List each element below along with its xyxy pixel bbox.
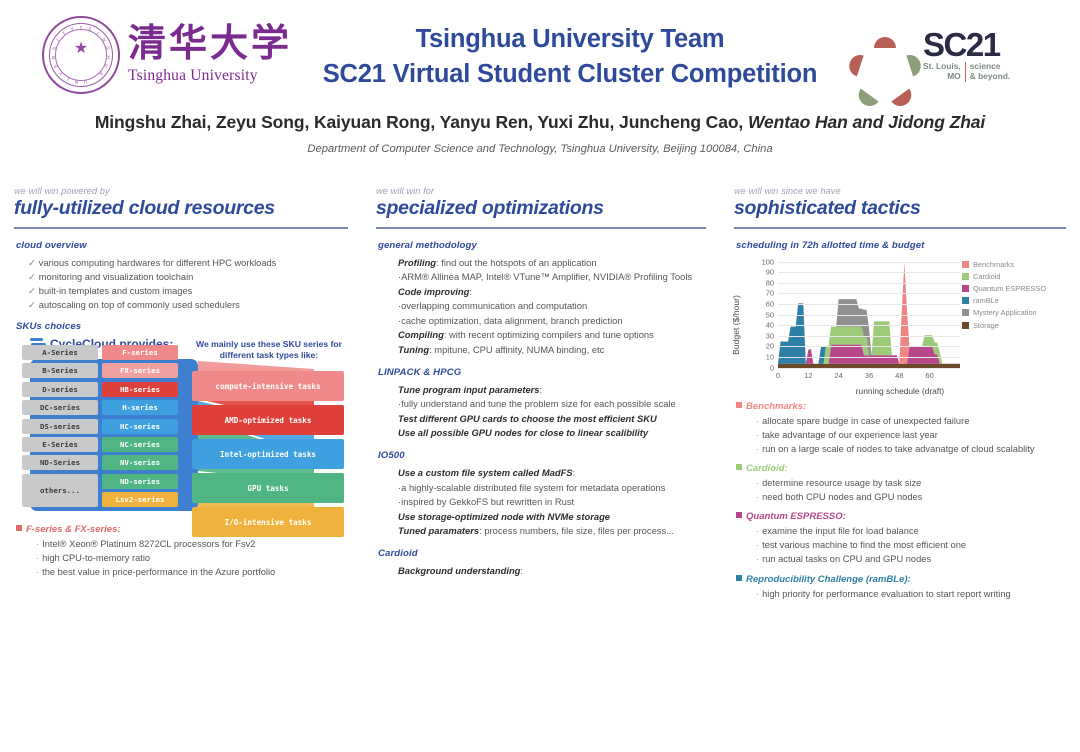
dot-icon: · [756, 492, 759, 502]
square-bullet-icon [736, 512, 742, 518]
chart-x-tick: 48 [895, 371, 903, 380]
task-type-list: compute-intensive tasks AMD-optimized ta… [192, 371, 344, 541]
schedule-chart: Budget ($/hour) 010203040506070809010001… [734, 256, 1066, 394]
sku-cell: NC-series [102, 437, 178, 452]
legend-item: Storage [962, 321, 1066, 330]
list-item-label: run actual tasks on CPU and GPU nodes [762, 554, 931, 564]
background-label: Background understanding [398, 565, 520, 576]
tune-params-sub: ·fully understand and tune the problem s… [398, 397, 706, 412]
cloud-overview-list: ✓various computing hardwares for differe… [28, 256, 348, 313]
chart-gridline [778, 262, 960, 263]
col2-section-io500: IO500 [378, 450, 706, 461]
madfs-sub-label: inspired by GekkoFS but rewritten in Rus… [401, 496, 574, 507]
star-icon: ★ [74, 41, 88, 57]
chart-y-tick: 30 [766, 331, 774, 340]
chart-x-tick: 0 [776, 371, 780, 380]
list-item: ·run on a large scale of nodes to take a… [756, 442, 1066, 456]
list-item: ·test various machine to find the most e… [756, 538, 1066, 552]
chart-y-tick: 0 [770, 363, 774, 372]
legend-label: Cardioid [973, 272, 1001, 281]
list-item-label: built-in templates and custom images [39, 286, 192, 296]
sku-cell: A-Series [22, 345, 98, 360]
col2-kicker: we will win for [376, 186, 706, 196]
dot-icon: · [756, 540, 759, 550]
sku-cell: F-series [102, 345, 178, 360]
chart-x-axis-title: running schedule (draft) [734, 386, 1066, 396]
chart-y-tick: 50 [766, 310, 774, 319]
group-header-benchmarks: Benchmarks: [736, 401, 1066, 412]
dot-icon: · [756, 554, 759, 564]
legend-swatch [962, 322, 969, 329]
legend-label: ramBLe [973, 296, 999, 305]
sc21-logo: SC21 St. Louis, MO science & beyond. [854, 20, 1062, 92]
tune-params-sub-label: fully understand and tune the problem si… [401, 398, 676, 409]
tune-params-text: : [540, 384, 543, 395]
university-name-en: Tsinghua University [128, 67, 292, 84]
code-improving-line: Code improving: [398, 285, 706, 300]
legend-swatch [962, 309, 969, 316]
list-item-label: allocate spare budge in case of unexpect… [762, 416, 969, 426]
background-text: : [520, 565, 523, 576]
col3-title: sophisticated tactics [734, 197, 1066, 220]
authors-block: Mingshu Zhai, Zeyu Song, Kaiyuan Rong, Y… [0, 112, 1080, 155]
list-item-label: examine the input file for load balance [762, 526, 919, 536]
list-item-label: high CPU-to-memory ratio [42, 553, 150, 563]
gpu-card-line: Test different GPU cards to choose the m… [398, 412, 706, 427]
col3-divider [734, 227, 1066, 229]
legend-swatch [962, 297, 969, 304]
dot-icon: · [756, 430, 759, 440]
list-item: ✓monitoring and visualization toolchain [28, 270, 348, 284]
chart-plot-area: 010203040506070809010001224364860 [778, 262, 960, 368]
storage-node-line: Use storage-optimized node with NVMe sto… [398, 510, 706, 525]
legend-label: Benchmarks [973, 260, 1014, 269]
list-item: ·determine resource usage by task size [756, 476, 1066, 490]
chart-x-tick: 12 [804, 371, 812, 380]
madfs-label: Use a custom file system called MadFS [398, 467, 573, 478]
author-names-plain: Mingshu Zhai, Zeyu Song, Kaiyuan Rong, Y… [95, 112, 748, 132]
tuned-params-label: Tuned paramaters [398, 525, 479, 536]
list-item-label: determine resource usage by task size [762, 478, 921, 488]
dot-icon: · [756, 444, 759, 454]
sku-cell: ND-series [102, 474, 178, 489]
check-icon: ✓ [28, 272, 36, 282]
sku-cell: HB-series [102, 382, 178, 397]
group-header-label: Benchmarks: [746, 401, 806, 412]
tune-params-line: Tune program input parameters: [398, 383, 706, 398]
legend-item: Mystery Application [962, 308, 1066, 317]
madfs-sub: ·inspired by GekkoFS but rewritten in Ru… [398, 495, 706, 510]
legend-label: Quantum ESPRESSO [973, 284, 1046, 293]
poster-root: TSINGHUA UNIVERSITY ★ 清华大学 Tsinghua Univ… [0, 0, 1080, 582]
col2-section-general-methodology: general methodology [378, 240, 706, 251]
university-name-cn: 清华大学 [128, 25, 292, 63]
col3-kicker: we will win since we have [734, 186, 1066, 196]
chart-y-tick: 90 [766, 268, 774, 277]
list-item-label: need both CPU nodes and GPU nodes [762, 492, 922, 502]
title-line-2: SC21 Virtual Student Cluster Competition [300, 57, 840, 92]
list-item: ·examine the input file for load balance [756, 524, 1066, 538]
list-item: ·allocate spare budge in case of unexpec… [756, 414, 1066, 428]
background-line: Background understanding: [398, 564, 706, 579]
chart-gridline [778, 336, 960, 337]
list-item: ✓autoscaling on top of commonly used sch… [28, 298, 348, 312]
group-header-label: Reproducibility Challenge (ramBLe): [746, 574, 911, 585]
compiling-label: Compiling [398, 329, 444, 340]
dot-icon: · [756, 589, 759, 599]
square-bullet-icon [736, 575, 742, 581]
sku-cell: B-Series [22, 363, 98, 378]
affiliation: Department of Computer Science and Techn… [0, 143, 1080, 155]
profiling-tools-label: ARM® Allinea MAP, Intel® VTune™ Amplifie… [401, 271, 692, 282]
code-improving-sub-label: overlapping communication and computatio… [401, 300, 587, 311]
chart-gridline [778, 272, 960, 273]
poster-columns: we will win powered by fully-utilized cl… [0, 186, 1080, 582]
legend-item: Cardioid [962, 272, 1066, 281]
list-item: ·the best value in price-performance in … [36, 565, 348, 579]
sku-cell: ND-Series [22, 455, 98, 470]
list-item: ✓various computing hardwares for differe… [28, 256, 348, 270]
dot-icon: · [756, 478, 759, 488]
madfs-line: Use a custom file system called MadFS: [398, 466, 706, 481]
column-tactics: we will win since we have sophisticated … [720, 186, 1080, 582]
tuned-params-line: Tuned paramaters: process numbers, file … [398, 524, 706, 539]
legend-item: Benchmarks [962, 260, 1066, 269]
sku-cell: FX-series [102, 363, 178, 378]
legend-swatch [962, 273, 969, 280]
profiling-text: : find out the hotspots of an applicatio… [436, 257, 597, 268]
tsinghua-logo: TSINGHUA UNIVERSITY ★ 清华大学 Tsinghua Univ… [42, 12, 292, 98]
chart-x-tick: 36 [865, 371, 873, 380]
col2-divider [376, 227, 706, 229]
sc21-location-line2: MO [923, 72, 961, 82]
list-item: ·run actual tasks on CPU and GPU nodes [756, 552, 1066, 566]
chart-gridline [778, 346, 960, 347]
tuned-params-text: : process numbers, file size, files per … [479, 525, 674, 536]
code-improving-sub: ·cache optimization, data alignment, bra… [398, 314, 706, 329]
poster-header: TSINGHUA UNIVERSITY ★ 清华大学 Tsinghua Univ… [0, 0, 1080, 108]
sku-cell: NV-series [102, 455, 178, 470]
chart-legend: BenchmarksCardioidQuantum ESPRESSOramBLe… [962, 260, 1066, 333]
legend-label: Storage [973, 321, 999, 330]
sc21-tagline-line2: & beyond. [970, 72, 1010, 82]
column-optimizations: we will win for specialized optimization… [362, 186, 720, 582]
col3-section-scheduling: scheduling in 72h allotted time & budget [736, 240, 1066, 251]
tactic-groups: Benchmarks:·allocate spare budge in case… [734, 401, 1066, 601]
tuning-label: Tuning [398, 344, 429, 355]
sku-left-column: A-Series B-Series D-series DC-series DS-… [22, 345, 98, 511]
legend-item: ramBLe [962, 296, 1066, 305]
col1-section-cloud-overview: cloud overview [16, 240, 348, 251]
dot-icon: · [756, 416, 759, 426]
list-item-label: high priority for performance evaluation… [762, 589, 1011, 599]
group-header-label: Cardioid: [746, 463, 788, 474]
check-icon: ✓ [28, 258, 36, 268]
square-bullet-icon [736, 464, 742, 470]
list-item-label: various computing hardwares for differen… [39, 258, 277, 268]
sku-diagram: CycleCloud provides: We mainly use these… [14, 337, 348, 517]
list-item: ·take advantage of our experience last y… [756, 428, 1066, 442]
sc21-pinwheel-icon [854, 26, 916, 86]
legend-swatch [962, 261, 969, 268]
task-chip: Intel-optimized tasks [192, 439, 344, 469]
list-item-label: run on a large scale of nodes to take ad… [762, 444, 1034, 454]
chart-y-tick: 100 [762, 257, 774, 266]
code-improving-sub: ·overlapping communication and computati… [398, 299, 706, 314]
sku-cell: DC-series [22, 400, 98, 415]
group-header-label: Quantum ESPRESSO: [746, 511, 846, 522]
chart-gridline [778, 325, 960, 326]
chart-gridline [778, 357, 960, 358]
group-item-list: ·high priority for performance evaluatio… [756, 587, 1066, 601]
author-names-italic: Wentao Han and Jidong Zhai [748, 112, 985, 132]
legend-swatch [962, 285, 969, 292]
chart-gridline [778, 283, 960, 284]
column-cloud-resources: we will win powered by fully-utilized cl… [0, 186, 362, 582]
madfs-text: : [573, 467, 576, 478]
chart-gridline [778, 293, 960, 294]
list-item: ·high CPU-to-memory ratio [36, 551, 348, 565]
list-item-label: the best value in price-performance in t… [42, 567, 275, 577]
list-item-label: take advantage of our experience last ye… [762, 430, 938, 440]
col2-title: specialized optimizations [376, 197, 706, 220]
tune-params-label: Tune program input parameters [398, 384, 540, 395]
seal-ring-text: TSINGHUA UNIVERSITY [44, 18, 118, 92]
compiling-text: : with recent optimizing compilers and t… [444, 329, 654, 340]
tuning-line: Tuning: mpitune, CPU affinity, NUMA bind… [398, 343, 706, 358]
sku-right-column: F-series FX-series HB-series H-series HC… [102, 345, 178, 511]
group-item-list: ·determine resource usage by task size·n… [756, 476, 1066, 504]
group-header-cardioid: Cardioid: [736, 463, 1066, 474]
task-chip: AMD-optimized tasks [192, 405, 344, 435]
tuning-text: : mpitune, CPU affinity, NUMA binding, e… [429, 344, 604, 355]
chart-x-tick: 24 [834, 371, 842, 380]
chart-y-tick: 60 [766, 299, 774, 308]
chart-x-tick: 60 [925, 371, 933, 380]
madfs-sub: ·a highly-scalable distributed file syst… [398, 481, 706, 496]
chart-gridline [778, 368, 960, 369]
chart-y-tick: 10 [766, 352, 774, 361]
sku-cell: Lsv2-series [102, 492, 178, 507]
fseries-list: ·Intel® Xeon® Platinum 8272CL processors… [36, 537, 348, 579]
col2-section-cardioid: Cardioid [378, 548, 706, 559]
compiling-line: Compiling: with recent optimizing compil… [398, 328, 706, 343]
poster-title: Tsinghua University Team SC21 Virtual St… [300, 22, 840, 92]
chart-y-axis-title: Budget ($/hour) [731, 295, 741, 355]
sku-cell: H-series [102, 400, 178, 415]
author-names: Mingshu Zhai, Zeyu Song, Kaiyuan Rong, Y… [0, 112, 1080, 133]
group-header-label: F-series & FX-series [26, 524, 117, 535]
code-improving-label: Code improving [398, 286, 469, 297]
list-item: ·high priority for performance evaluatio… [756, 587, 1066, 601]
chart-y-tick: 80 [766, 278, 774, 287]
profiling-label: Profiling [398, 257, 436, 268]
profiling-tools: ·ARM® Allinea MAP, Intel® VTune™ Amplifi… [398, 270, 706, 285]
legend-item: Quantum ESPRESSO [962, 284, 1066, 293]
sc21-wordmark: SC21 [923, 30, 1010, 60]
dot-icon: · [36, 539, 39, 549]
sku-cell: DS-series [22, 419, 98, 434]
code-improving-sub-label: cache optimization, data alignment, bran… [401, 315, 622, 326]
dot-icon: · [36, 567, 39, 577]
tsinghua-seal-icon: TSINGHUA UNIVERSITY ★ [42, 16, 120, 94]
sku-cell: D-series [22, 382, 98, 397]
legend-label: Mystery Application [973, 308, 1037, 317]
square-bullet-icon [16, 525, 22, 531]
col1-title: fully-utilized cloud resources [14, 197, 348, 220]
sku-cell: E-Series [22, 437, 98, 452]
sku-cell: others... [22, 474, 98, 507]
group-header-reproducibility-challenge-ramble-: Reproducibility Challenge (ramBLe): [736, 574, 1066, 585]
list-item-label: autoscaling on top of commonly used sche… [39, 300, 240, 310]
task-chip: GPU tasks [192, 473, 344, 503]
group-header-quantum-espresso: Quantum ESPRESSO: [736, 511, 1066, 522]
chart-y-tick: 40 [766, 321, 774, 330]
square-bullet-icon [736, 402, 742, 408]
chart-y-tick: 70 [766, 289, 774, 298]
sku-cell: HC-series [102, 419, 178, 434]
task-chip: compute-intensive tasks [192, 371, 344, 401]
chart-y-tick: 20 [766, 342, 774, 351]
task-chip: I/O-intensive tasks [192, 507, 344, 537]
check-icon: ✓ [28, 300, 36, 310]
col1-divider [14, 227, 348, 229]
col2-section-linpack-hpcg: LINPACK & HPCG [378, 367, 706, 378]
check-icon: ✓ [28, 286, 36, 296]
list-item-label: monitoring and visualization toolchain [39, 272, 194, 282]
list-item: ·need both CPU nodes and GPU nodes [756, 490, 1066, 504]
col1-kicker: we will win powered by [14, 186, 348, 196]
code-improving-text: : [469, 286, 472, 297]
list-item-label: test various machine to find the most ef… [762, 540, 966, 550]
group-item-list: ·allocate spare budge in case of unexpec… [756, 414, 1066, 456]
col1-section-skus-choices: SKUs choices [16, 321, 348, 332]
list-item: ✓built-in templates and custom images [28, 284, 348, 298]
dot-icon: · [36, 553, 39, 563]
sku-note: We mainly use these SKU series for diffe… [194, 339, 344, 361]
madfs-sub-label: a highly-scalable distributed file syste… [401, 482, 665, 493]
dot-icon: · [756, 526, 759, 536]
gpu-nodes-line: Use all possible GPU nodes for close to … [398, 426, 706, 441]
chart-gridline [778, 315, 960, 316]
group-item-list: ·examine the input file for load balance… [756, 524, 1066, 566]
title-line-1: Tsinghua University Team [300, 22, 840, 57]
chart-gridline [778, 304, 960, 305]
profiling-line: Profiling: find out the hotspots of an a… [398, 256, 706, 271]
